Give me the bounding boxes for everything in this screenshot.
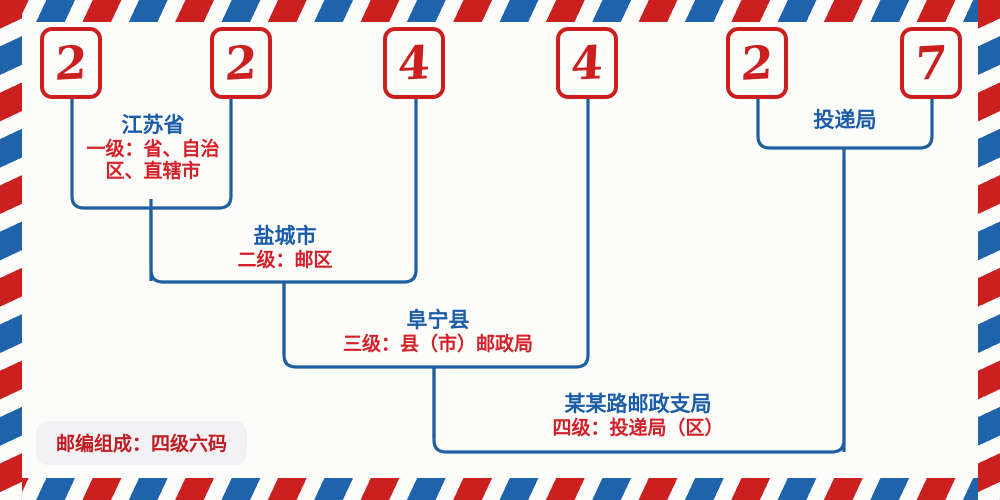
legend-badge-text: 邮编组成：四级六码 [56,433,227,455]
label-delivery-office-title: 投递局 [760,108,930,133]
digit-value-4: 4 [570,39,605,87]
label-level-3-sub: 三级：县（市）邮政局 [288,333,588,355]
label-level-1-title: 江苏省 [78,113,228,138]
digit-box-6[interactable]: 7 [900,27,962,99]
label-delivery-office: 投递局 [760,108,930,133]
label-level-2-sub: 二级：邮区 [155,249,415,271]
legend-badge: 邮编组成：四级六码 [36,421,247,465]
label-level-3-title: 阜宁县 [288,308,588,333]
label-level-1-sub: 一级：省、自治区、直辖市 [78,138,228,183]
digit-value-1: 2 [54,39,89,87]
label-level-3: 阜宁县 三级：县（市）邮政局 [288,308,588,355]
label-level-2: 盐城市 二级：邮区 [155,224,415,271]
digit-value-6: 7 [914,39,949,87]
digit-box-2[interactable]: 2 [210,27,272,99]
digit-value-5: 2 [740,39,775,87]
label-level-2-title: 盐城市 [155,224,415,249]
digit-value-3: 4 [397,39,432,87]
label-level-4-title: 某某路邮政支局 [438,392,838,417]
label-level-4: 某某路邮政支局 四级：投递局（区） [438,392,838,439]
digit-box-5[interactable]: 2 [726,27,788,99]
label-level-1: 江苏省 一级：省、自治区、直辖市 [78,113,228,183]
postcode-diagram-page: 2 2 4 4 2 7 江苏省 一级：省、自治区、直辖市 盐城市 二级：邮区 阜… [0,0,1000,500]
digit-box-1[interactable]: 2 [40,27,102,99]
digit-box-3[interactable]: 4 [383,27,445,99]
label-level-4-sub: 四级：投递局（区） [438,417,838,439]
digit-value-2: 2 [224,39,259,87]
postcode-digit-row: 2 2 4 4 2 7 [0,0,1000,110]
digit-box-4[interactable]: 4 [556,27,618,99]
